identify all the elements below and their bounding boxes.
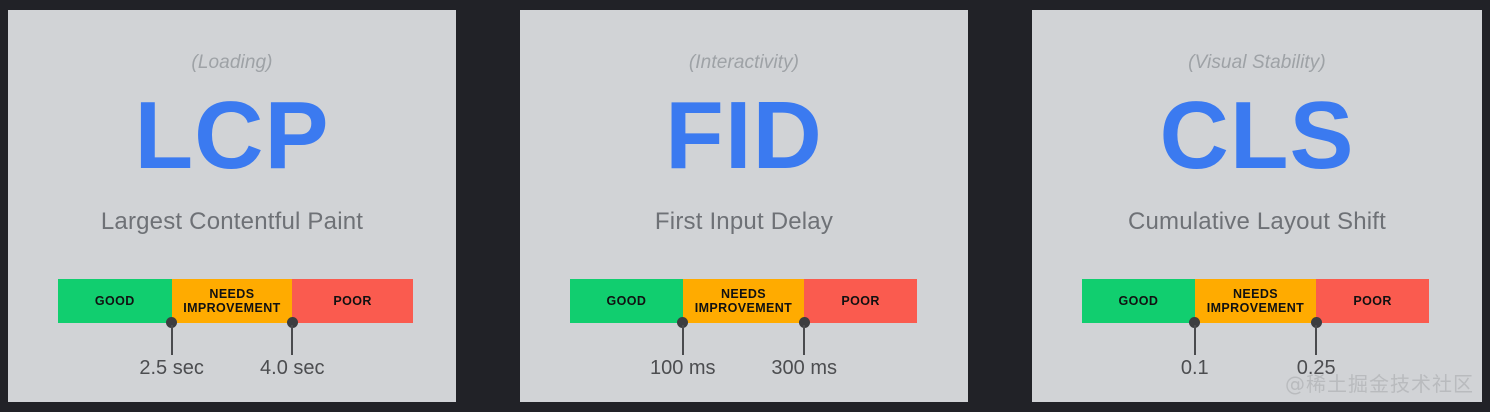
threshold-marker-stem xyxy=(803,325,805,355)
metric-fullname: First Input Delay xyxy=(520,208,968,236)
threshold-marker-value: 0.1 xyxy=(1125,357,1265,380)
threshold-bar-fid: GOOD NEEDS IMPROVEMENT POOR 100 ms 300 m… xyxy=(570,269,917,389)
threshold-marker-value: 4.0 sec xyxy=(222,357,362,380)
metric-panel-lcp: (Loading) LCP Largest Contentful Paint G… xyxy=(8,10,456,402)
metric-category-label: (Loading) xyxy=(8,52,456,74)
metric-acronym: FID xyxy=(520,88,968,184)
threshold-segment-needs: NEEDS IMPROVEMENT xyxy=(1195,279,1316,323)
threshold-segment-needs: NEEDS IMPROVEMENT xyxy=(172,279,293,323)
threshold-marker-stem xyxy=(1315,325,1317,355)
metric-category-label: (Interactivity) xyxy=(520,52,968,74)
threshold-segment-poor: POOR xyxy=(804,279,917,323)
threshold-marker-stem xyxy=(682,325,684,355)
threshold-bar-track: GOOD NEEDS IMPROVEMENT POOR xyxy=(58,279,413,323)
threshold-segment-poor: POOR xyxy=(1316,279,1429,323)
core-web-vitals-infographic: (Loading) LCP Largest Contentful Paint G… xyxy=(0,0,1490,412)
threshold-bar-track: GOOD NEEDS IMPROVEMENT POOR xyxy=(1082,279,1429,323)
threshold-segment-needs: NEEDS IMPROVEMENT xyxy=(683,279,804,323)
threshold-marker-value: 100 ms xyxy=(613,357,753,380)
metric-fullname: Cumulative Layout Shift xyxy=(1032,208,1482,236)
threshold-segment-good: GOOD xyxy=(1082,279,1195,323)
threshold-segment-good: GOOD xyxy=(58,279,172,323)
metric-fullname: Largest Contentful Paint xyxy=(8,208,456,236)
metric-category-label: (Visual Stability) xyxy=(1032,52,1482,74)
threshold-marker-value: 2.5 sec xyxy=(102,357,242,380)
threshold-marker-value: 300 ms xyxy=(734,357,874,380)
threshold-bar-lcp: GOOD NEEDS IMPROVEMENT POOR 2.5 sec 4.0 … xyxy=(58,269,413,389)
metric-panel-cls: (Visual Stability) CLS Cumulative Layout… xyxy=(1032,10,1482,402)
threshold-marker-value: 0.25 xyxy=(1246,357,1386,380)
threshold-segment-good: GOOD xyxy=(570,279,683,323)
metric-acronym: CLS xyxy=(1032,88,1482,184)
metric-acronym: LCP xyxy=(8,88,456,184)
threshold-segment-poor: POOR xyxy=(292,279,413,323)
threshold-bar-cls: GOOD NEEDS IMPROVEMENT POOR 0.1 0.25 xyxy=(1082,269,1429,389)
metric-panel-fid: (Interactivity) FID First Input Delay GO… xyxy=(520,10,968,402)
threshold-marker-stem xyxy=(1194,325,1196,355)
threshold-marker-stem xyxy=(171,325,173,355)
threshold-bar-track: GOOD NEEDS IMPROVEMENT POOR xyxy=(570,279,917,323)
threshold-marker-stem xyxy=(291,325,293,355)
